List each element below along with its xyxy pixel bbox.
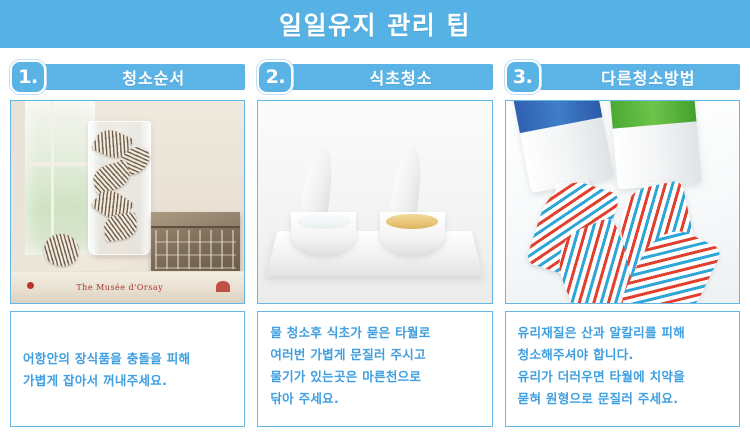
wooden-box-pattern (155, 230, 237, 269)
book-title-text: The Musée d'Orsay (76, 283, 163, 292)
panel-1-title: 청소순서 (122, 65, 185, 89)
spoon-bowl (380, 212, 445, 255)
panel-2-titlebar: 식초청소 (283, 64, 492, 90)
wooden-box-lid (151, 212, 240, 228)
panel-row: 청소순서 1. (0, 48, 750, 437)
vinegar-liquid (386, 214, 438, 229)
panel-3-number-badge: 3. (505, 60, 541, 94)
caption-line: 묻혀 원형으로 문질러 주세요. (518, 388, 727, 410)
ceramic-spoon-water (291, 162, 356, 255)
panel-2-caption-box: 물 청소후 식초가 묻은 타월로 여러번 가볍게 문질러 주시고 물기가 있는곳… (257, 311, 492, 427)
infographic-page: 일일유지 관리 팁 청소순서 1. (0, 0, 750, 437)
tube-label-blue (510, 101, 602, 133)
caption-line: 닦아 주세요. (270, 388, 479, 410)
panel-1-number-badge: 1. (10, 60, 46, 94)
photo-1-canvas: The Musée d'Orsay (11, 101, 244, 303)
ceramic-spoon-vinegar (380, 162, 445, 255)
window-with-foliage (25, 101, 95, 255)
header-banner: 일일유지 관리 팁 (0, 0, 750, 48)
window-sill (25, 162, 95, 166)
vinegar-spoons-on-tray-photo (257, 100, 492, 304)
tube-label-green (608, 101, 696, 128)
panel-3-titlebar: 다른청소방법 (531, 64, 740, 90)
panel-1-caption-box: 어항안의 장식품을 충돌을 피해 가볍게 잡아서 꺼내주세요. (10, 311, 245, 427)
window-mullion (51, 101, 54, 255)
panel-3-caption-box: 유리재질은 산과 알칼리를 피해 청소해주셔야 합니다. 유리가 더러우면 타월… (505, 311, 740, 427)
panel-2-header: 식초청소 2. (257, 60, 492, 94)
panel-cleaning-order: 청소순서 1. (10, 60, 245, 427)
panel-2-title: 식초청소 (370, 65, 433, 89)
stacked-books: The Musée d'Orsay (11, 271, 244, 303)
panel-1-number: 1. (18, 68, 37, 87)
caption-line: 유리재질은 산과 알칼리를 피해 (518, 322, 727, 344)
toothpaste-tube-green (608, 101, 702, 189)
caption-line: 가볍게 잡아서 꺼내주세요. (23, 370, 232, 392)
photo-2-canvas (258, 101, 491, 303)
carved-wooden-box (151, 212, 240, 273)
panel-vinegar-cleaning: 식초청소 2. (257, 60, 492, 427)
shells-in-glass-vase-photo: The Musée d'Orsay (10, 100, 245, 304)
caption-line: 여러번 가볍게 문질러 주시고 (270, 344, 479, 366)
caption-line: 물 청소후 식초가 묻은 타월로 (270, 322, 479, 344)
panel-1-titlebar: 청소순서 (36, 64, 245, 90)
panel-3-number: 3. (513, 68, 532, 87)
panel-other-cleaning-methods: 다른청소방법 3. (505, 60, 740, 427)
toothpaste-tubes-photo (505, 100, 740, 304)
caption-line: 유리가 더러우면 타월에 치약을 (518, 366, 727, 388)
page-title: 일일유지 관리 팁 (279, 6, 471, 42)
panel-1-header: 청소순서 1. (10, 60, 245, 94)
panel-3-title: 다른청소방법 (601, 65, 695, 89)
caption-line: 청소해주셔야 합니다. (518, 344, 727, 366)
caption-line: 어항안의 장식품을 충돌을 피해 (23, 348, 232, 370)
water-liquid (298, 214, 350, 229)
photo-3-canvas (506, 101, 739, 303)
caption-line: 물기가 있는곳은 마른천으로 (270, 366, 479, 388)
panel-2-number-badge: 2. (257, 60, 293, 94)
panel-3-header: 다른청소방법 3. (505, 60, 740, 94)
book-dot-icon (27, 282, 34, 289)
spoon-bowl (291, 212, 356, 255)
panel-2-number: 2. (266, 68, 285, 87)
book-mark-icon (216, 281, 230, 292)
